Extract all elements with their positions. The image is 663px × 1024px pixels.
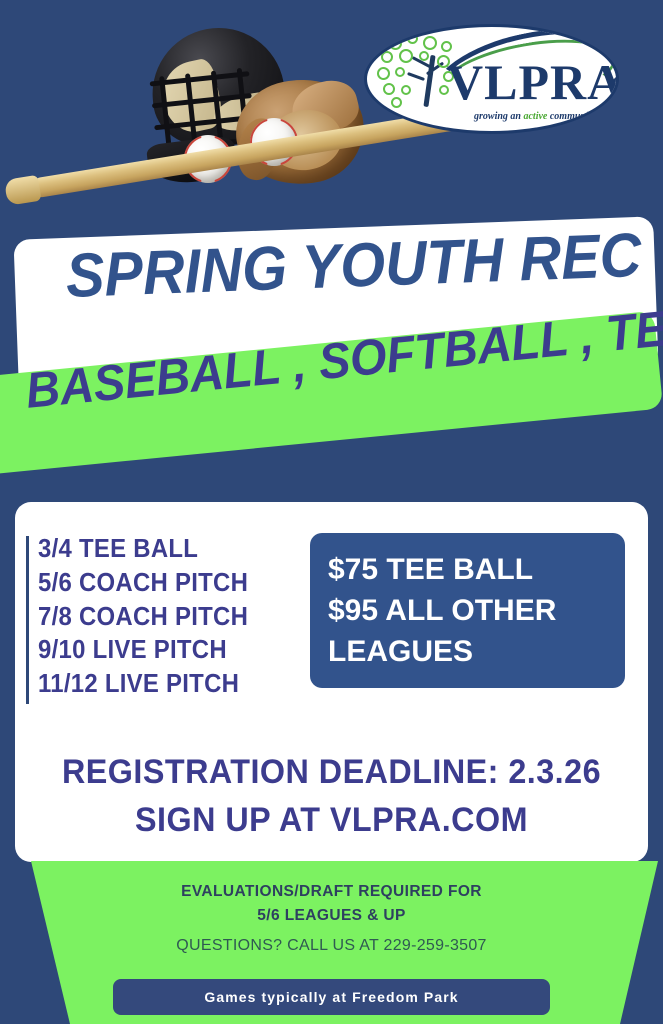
logo-leaf-icon: [395, 67, 405, 77]
logo-leaf-icon: [407, 33, 418, 44]
poster-root: VLPRA growing an active community SPRING…: [0, 0, 663, 1024]
list-item: 9/10 LIVE PITCH: [38, 633, 277, 667]
logo-leaf-icon: [423, 36, 437, 50]
logo-leaf-icon: [399, 49, 413, 63]
league-list: 3/4 TEE BALL 5/6 COACH PITCH 7/8 COACH P…: [38, 532, 298, 701]
price-line: $95 ALL OTHER: [328, 590, 607, 631]
venue-label: Games typically at Freedom Park: [204, 989, 458, 1005]
logo-leaf-icon: [377, 67, 390, 80]
list-item: 7/8 COACH PITCH: [38, 600, 277, 634]
logo-tagline-after: community: [547, 111, 596, 122]
logo-leaf-icon: [401, 85, 411, 95]
contact-phone[interactable]: QUESTIONS? CALL US AT 229-259-3507: [0, 937, 663, 955]
signup-url[interactable]: SIGN UP AT VLPRA.COM: [17, 796, 647, 844]
logo-wordmark: VLPRA: [447, 57, 619, 107]
evaluations-line-2: 5/6 LEAGUES & UP: [0, 904, 663, 928]
evaluations-line-1: EVALUATIONS/DRAFT REQUIRED FOR: [0, 880, 663, 904]
logo-leaf-icon: [419, 51, 429, 61]
logo-tagline-before: growing an: [474, 111, 523, 122]
registration-info: REGISTRATION DEADLINE: 2.3.26 SIGN UP AT…: [0, 748, 663, 845]
evaluations-notice: EVALUATIONS/DRAFT REQUIRED FOR 5/6 LEAGU…: [0, 880, 663, 928]
logo-leaf-icon: [381, 51, 393, 63]
list-item: 11/12 LIVE PITCH: [38, 667, 277, 701]
logo-leaf-icon: [441, 41, 452, 52]
logo-tagline: growing an active community: [455, 111, 615, 122]
list-item: 3/4 TEE BALL: [38, 532, 277, 566]
logo-leaf-icon: [389, 37, 402, 50]
price-line: LEAGUES: [328, 631, 607, 672]
logo-tree-branch-icon: [407, 72, 425, 81]
logo-tagline-highlight: active: [523, 111, 547, 122]
pricing-box: $75 TEE BALL $95 ALL OTHER LEAGUES: [310, 533, 625, 688]
league-list-accent-bar: [26, 536, 29, 704]
bat-knob: [4, 175, 42, 206]
venue-badge: Games typically at Freedom Park: [113, 979, 550, 1015]
list-item: 5/6 COACH PITCH: [38, 566, 277, 600]
logo-leaf-icon: [391, 97, 402, 108]
registration-deadline: REGISTRATION DEADLINE: 2.3.26: [17, 748, 647, 796]
logo-leaf-icon: [383, 83, 395, 95]
price-line: $75 TEE BALL: [328, 549, 607, 590]
vlpra-logo: VLPRA growing an active community: [364, 24, 619, 134]
